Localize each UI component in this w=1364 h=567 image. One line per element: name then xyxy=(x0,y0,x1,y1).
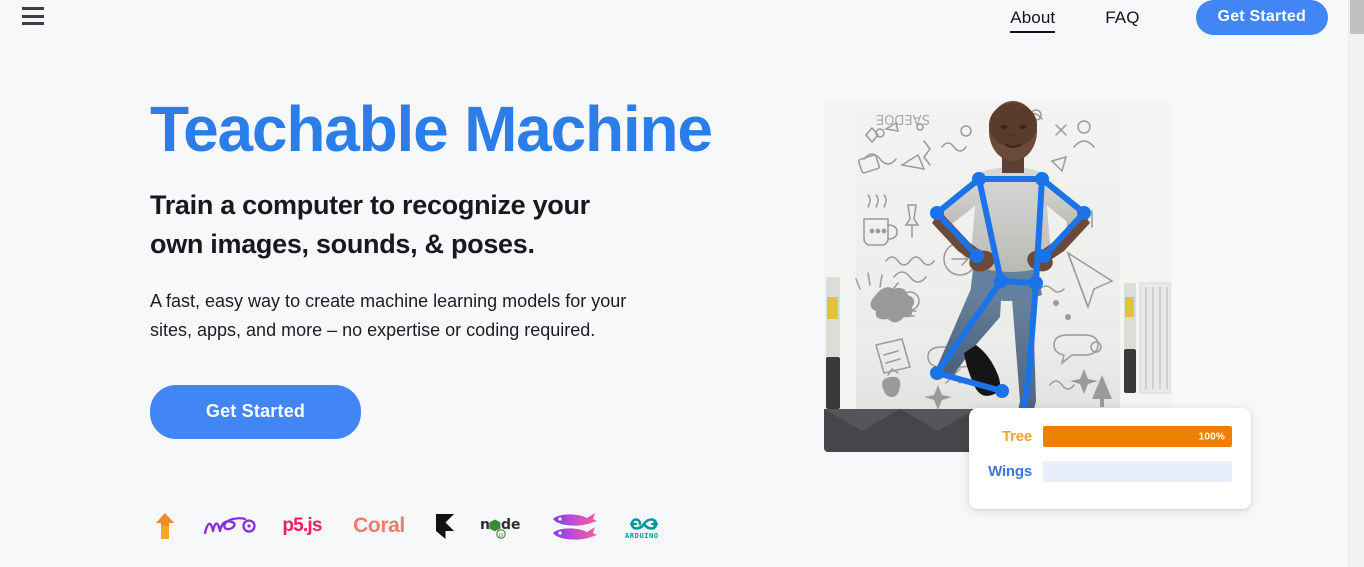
p5js-logo-text: p5.js xyxy=(282,515,321,537)
ml5js-logo[interactable] xyxy=(202,505,256,547)
svg-text:SAEDOE: SAEDOE xyxy=(876,111,930,126)
hero-description: A fast, easy way to create machine learn… xyxy=(150,287,630,345)
prediction-value-tree: 100% xyxy=(1199,431,1225,442)
prediction-bar-track-tree: 100% xyxy=(1043,426,1232,447)
partner-logo-strip: p5.js Coral n de js xyxy=(150,505,666,547)
hamburger-bar-1 xyxy=(22,7,44,10)
prediction-row-tree: Tree 100% xyxy=(988,426,1232,447)
hamburger-menu-icon[interactable] xyxy=(22,7,44,25)
node-logo[interactable]: n de js xyxy=(480,505,528,547)
nav-get-started-button[interactable]: Get Started xyxy=(1196,0,1328,35)
pose-demo-photo-svg: SAEDOE xyxy=(824,101,1172,452)
svg-text:n: n xyxy=(480,517,490,533)
nav-link-about[interactable]: About xyxy=(1010,2,1055,33)
hamburger-bar-2 xyxy=(22,15,44,18)
page-title: Teachable Machine xyxy=(150,94,790,164)
framer-logo[interactable] xyxy=(432,505,458,547)
page-viewport: About FAQ Get Started Teachable Machine … xyxy=(0,0,1348,567)
pose-demo-photo: SAEDOE xyxy=(824,101,1172,452)
prediction-card: Tree 100% Wings xyxy=(969,408,1251,509)
prediction-row-wings: Wings xyxy=(988,461,1232,482)
top-navigation-bar: About FAQ Get Started xyxy=(0,0,1348,44)
p5js-logo[interactable]: p5.js xyxy=(278,505,326,547)
fish-logo[interactable] xyxy=(550,505,600,547)
prediction-label-tree: Tree xyxy=(988,428,1043,445)
coral-logo-text: Coral xyxy=(353,514,405,538)
hero-text-column: Teachable Machine Train a computer to re… xyxy=(150,94,790,439)
coral-logo[interactable]: Coral xyxy=(348,505,410,547)
page-scrollbar[interactable] xyxy=(1348,0,1364,567)
nav-links-group: About FAQ Get Started xyxy=(1010,0,1328,44)
scrollbar-thumb[interactable] xyxy=(1350,0,1364,34)
hero-get-started-button[interactable]: Get Started xyxy=(150,385,361,439)
prediction-label-wings: Wings xyxy=(988,463,1043,480)
hamburger-bar-3 xyxy=(22,22,44,25)
prediction-bar-track-wings xyxy=(1043,461,1232,482)
svg-text:js: js xyxy=(498,533,504,539)
arduino-logo[interactable]: ARDUINO xyxy=(622,505,666,547)
nav-link-faq[interactable]: FAQ xyxy=(1105,2,1139,31)
hero-subtitle: Train a computer to recognize your own i… xyxy=(150,186,620,264)
svg-text:ARDUINO: ARDUINO xyxy=(625,532,659,540)
glitch-logo[interactable] xyxy=(150,505,180,547)
